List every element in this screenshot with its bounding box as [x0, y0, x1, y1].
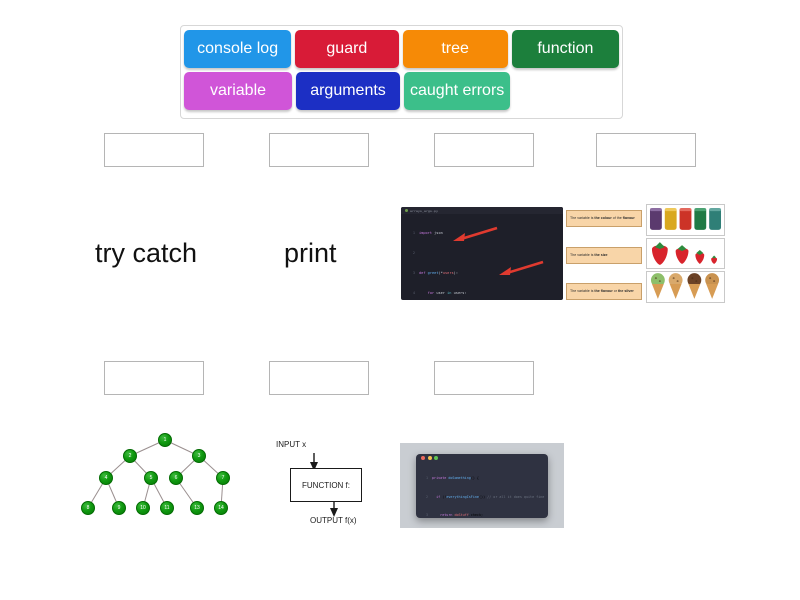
orange-card-3-text: The variable is: [570, 289, 594, 293]
orange-card-3-bold1: the flavour: [594, 289, 612, 293]
word-tile-tree[interactable]: tree: [403, 30, 508, 68]
tree-node-6: 6: [169, 471, 183, 485]
tree-node-14: 14: [214, 501, 228, 515]
orange-card-2-bold1: the size: [594, 253, 607, 257]
editor-tab-bar: arrays_args.py: [401, 207, 563, 214]
word-bank-row-1: console log guard tree function: [184, 30, 619, 68]
prompt-binary-tree-diagram: 1 2 3 4 5 6 7 8 9 10 11 13 14: [68, 428, 234, 528]
function-box-rect: FUNCTION f:: [290, 468, 362, 502]
tree-node-3: 3: [192, 449, 206, 463]
word-bank: console log guard tree function variable…: [180, 25, 623, 119]
word-tile-variable[interactable]: variable: [184, 72, 292, 110]
cans-icon: [649, 206, 722, 232]
orange-card-2: The variable is the size: [566, 247, 642, 264]
terminal-window: 1private doSomething() { 2 if (!everythi…: [416, 454, 548, 518]
word-tile-arguments[interactable]: arguments: [296, 72, 400, 110]
drop-zone-5[interactable]: [104, 361, 204, 395]
drop-zone-7[interactable]: [434, 361, 534, 395]
drop-zone-6[interactable]: [269, 361, 369, 395]
prompt-try-catch: try catch: [95, 238, 197, 269]
tree-node-13: 13: [190, 501, 204, 515]
strawberries-icon: [649, 240, 722, 266]
orange-card-3: The variable is the flavour or the silve…: [566, 283, 642, 300]
word-tile-guard[interactable]: guard: [295, 30, 398, 68]
terminal-title-bar: [416, 454, 548, 463]
strawberries-strip: [646, 238, 725, 269]
word-tile-console-log[interactable]: console log: [184, 30, 291, 68]
cans-strip: [646, 204, 725, 236]
orange-card-1-mid: of the: [612, 216, 623, 220]
orange-card-2-text: The variable is: [570, 253, 594, 257]
orange-card-1-bold1: the colour: [594, 216, 611, 220]
editor-code-body: 1import json 2 3def greet(*users): 4 for…: [401, 214, 563, 300]
icecream-strip: [646, 271, 725, 303]
close-dot-icon[interactable]: [421, 456, 425, 460]
orange-card-1-text: The variable is: [570, 216, 594, 220]
prompt-variable-picture-strips: [646, 204, 725, 303]
drop-zone-2[interactable]: [269, 133, 369, 167]
tree-node-10: 10: [136, 501, 150, 515]
drop-zone-1[interactable]: [104, 133, 204, 167]
maximize-dot-icon[interactable]: [434, 456, 438, 460]
tree-node-8: 8: [81, 501, 95, 515]
word-bank-row-2: variable arguments caught errors: [184, 72, 619, 110]
prompt-print: print: [284, 238, 337, 269]
prompt-orange-statement-cards: The variable is the colour of the flavou…: [566, 207, 642, 301]
tree-node-4: 4: [99, 471, 113, 485]
function-box-label: FUNCTION f:: [302, 481, 350, 490]
word-tile-function[interactable]: function: [512, 30, 619, 68]
file-dot-icon: [405, 209, 408, 212]
editor-tab-title: arrays_args.py: [410, 209, 438, 213]
function-box-output-label: OUTPUT f(x): [310, 516, 357, 525]
tree-node-2: 2: [123, 449, 137, 463]
prompt-function-box-diagram: INPUT x FUNCTION f: OUTPUT f(x): [268, 440, 378, 530]
tree-node-1: 1: [158, 433, 172, 447]
word-tile-caught-errors[interactable]: caught errors: [404, 72, 510, 110]
tree-node-7: 7: [216, 471, 230, 485]
tree-node-9: 9: [112, 501, 126, 515]
orange-card-1: The variable is the colour of the flavou…: [566, 210, 642, 227]
icecream-cones-icon: [649, 272, 722, 300]
terminal-code-body: 1private doSomething() { 2 if (!everythi…: [416, 463, 548, 518]
orange-card-1-bold2: flavour: [623, 216, 635, 220]
minimize-dot-icon[interactable]: [428, 456, 432, 460]
drop-zone-4[interactable]: [596, 133, 696, 167]
prompt-python-code-editor: arrays_args.py 1import json 2 3def greet…: [401, 207, 563, 300]
prompt-terminal-code-screenshot: 1private doSomething() { 2 if (!everythi…: [400, 443, 564, 528]
tree-node-5: 5: [144, 471, 158, 485]
drop-zone-3[interactable]: [434, 133, 534, 167]
orange-card-3-bold2: the silver: [618, 289, 634, 293]
tree-node-11: 11: [160, 501, 174, 515]
